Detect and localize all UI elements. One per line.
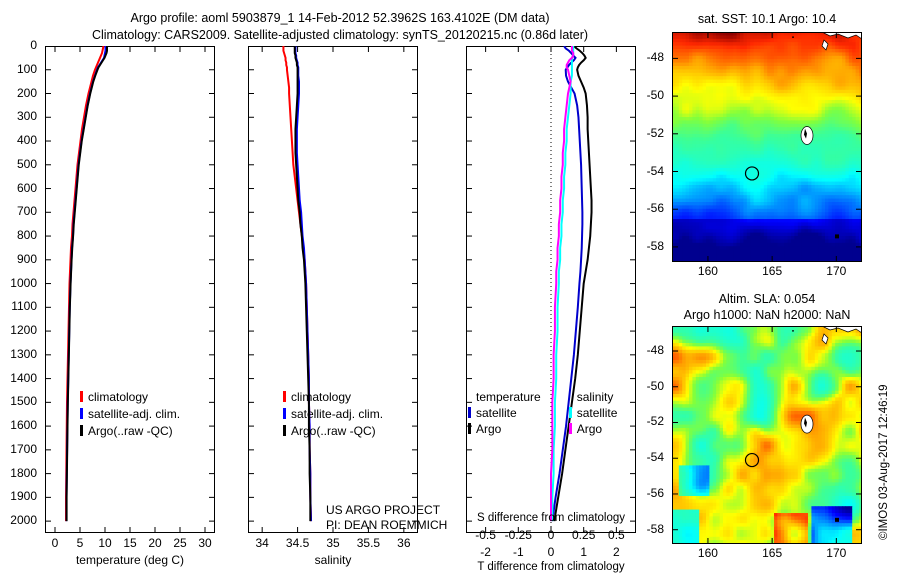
legend-item-satellite-adj: satellite-adj. clim. xyxy=(80,407,180,421)
t-difference-tick-label: -1 xyxy=(513,545,524,559)
map-lat-tick-label: -56 xyxy=(647,201,664,215)
legend-group-header-salinity: salinity xyxy=(577,390,618,404)
salinity-panel xyxy=(248,46,418,533)
sla-map xyxy=(672,326,862,544)
salinity-xtick-labels: 3434.53535.536 xyxy=(248,536,418,552)
legend-item-salinity-satellite: satellite xyxy=(569,406,618,420)
map-lon-tick-label: 160 xyxy=(698,264,718,278)
legend-label: climatology xyxy=(88,390,148,404)
legend-item-argo: Argo(..raw -QC) xyxy=(80,424,180,438)
map-lon-tick-label: 165 xyxy=(762,546,782,560)
t-difference-xtick-labels: -2-1012 xyxy=(466,545,636,560)
legend-swatch-temperature-satellite xyxy=(468,407,471,418)
legend-label: climatology xyxy=(291,390,351,404)
us-argo-project-line2: PI: DEAN ROEMMICH xyxy=(326,518,447,532)
map-lat-tick-label: -48 xyxy=(647,50,664,64)
map-lat-tick-label: -54 xyxy=(647,450,664,464)
difference-profile-plot xyxy=(466,46,636,533)
temperature-legend: climatology satellite-adj. clim. Argo(..… xyxy=(80,390,180,438)
t-difference-axis-label: T difference from climatology xyxy=(466,561,636,573)
imos-credit-text: ©IMOS 03-Aug-2017 12:46:19 xyxy=(878,384,890,540)
sla-map-title-line1: Altim. SLA: 0.054 xyxy=(662,292,872,306)
legend-label: Argo xyxy=(577,422,602,436)
s-difference-tick-label: 0.5 xyxy=(608,528,625,542)
salinity-profile-plot xyxy=(248,46,418,533)
salinity-tick-label: 34.5 xyxy=(286,536,309,550)
legend-item-argo: Argo(..raw -QC) xyxy=(283,424,383,438)
depth-tick-label: 0 xyxy=(30,38,37,52)
legend-swatch-satellite-adj xyxy=(283,408,286,419)
legend-swatch-argo xyxy=(80,425,83,436)
legend-label: satellite xyxy=(476,406,517,420)
depth-tick-label: 2000 xyxy=(10,513,37,527)
sst-map xyxy=(672,32,862,262)
temperature-xtick-labels: 051015202530 xyxy=(45,536,215,552)
legend-swatch-argo xyxy=(283,425,286,436)
temperature-tick-label: 25 xyxy=(173,536,186,550)
depth-tick-label: 1900 xyxy=(10,489,37,503)
map-lat-tick-label: -50 xyxy=(647,88,664,102)
salinity-axis-label: salinity xyxy=(248,553,418,567)
temperature-axis-label: temperature (deg C) xyxy=(45,553,215,567)
sla-map-title-line2: Argo h1000: NaN h2000: NaN xyxy=(662,308,872,322)
legend-label: Argo(..raw -QC) xyxy=(291,424,376,438)
figure-title-line1: Argo profile: aoml 5903879_1 14-Feb-2012… xyxy=(0,11,680,25)
legend-swatch-climatology xyxy=(283,391,286,402)
depth-tick-label: 800 xyxy=(17,228,37,242)
series-argo-raw-qc- xyxy=(67,46,107,521)
difference-legend-temperature-column: temperature satellite Argo xyxy=(468,390,541,436)
legend-group-header-temperature: temperature xyxy=(476,390,541,404)
salinity-legend: climatology satellite-adj. clim. Argo(..… xyxy=(283,390,383,438)
s-difference-tick-label: -0.25 xyxy=(505,528,532,542)
temperature-profile-plot xyxy=(45,46,215,533)
depth-tick-label: 600 xyxy=(17,181,37,195)
map-lon-tick-label: 165 xyxy=(762,264,782,278)
legend-item-temperature-argo: Argo xyxy=(468,422,541,436)
depth-tick-label: 700 xyxy=(17,204,37,218)
legend-swatch-climatology xyxy=(80,391,83,402)
depth-tick-label: 1400 xyxy=(10,371,37,385)
temperature-tick-label: 10 xyxy=(98,536,111,550)
sst-map-canvas xyxy=(672,32,862,262)
legend-swatch-salinity-satellite xyxy=(569,407,572,418)
s-difference-axis-label: S difference from climatology xyxy=(466,512,636,524)
depth-axis-ticks: 0100200300400500600700800900100011001200… xyxy=(0,46,43,533)
salinity-tick-label: 34 xyxy=(255,536,268,550)
sla-map-lat-ticks: -48-50-52-54-56-58 xyxy=(632,326,670,544)
sla-map-canvas xyxy=(672,326,862,544)
s-difference-tick-label: -0.5 xyxy=(475,528,496,542)
salinity-tick-label: 35 xyxy=(326,536,339,550)
t-difference-tick-label: 0 xyxy=(548,545,555,559)
depth-tick-label: 400 xyxy=(17,133,37,147)
map-lat-tick-label: -48 xyxy=(647,343,664,357)
depth-tick-label: 1200 xyxy=(10,323,37,337)
salinity-tick-label: 36 xyxy=(397,536,410,550)
imos-credit: ©IMOS 03-Aug-2017 12:46:19 xyxy=(878,540,900,552)
difference-panel xyxy=(466,46,636,533)
map-lon-tick-label: 160 xyxy=(698,546,718,560)
legend-item-satellite-adj: satellite-adj. clim. xyxy=(283,407,383,421)
map-lat-tick-label: -58 xyxy=(647,522,664,536)
map-lat-tick-label: -56 xyxy=(647,486,664,500)
legend-label: Argo(..raw -QC) xyxy=(88,424,173,438)
depth-tick-label: 200 xyxy=(17,86,37,100)
salinity-tick-label: 35.5 xyxy=(357,536,380,550)
s-difference-xtick-labels: -0.5-0.2500.250.5 xyxy=(466,528,636,543)
temperature-tick-label: 0 xyxy=(52,536,59,550)
t-difference-tick-label: -2 xyxy=(480,545,491,559)
depth-tick-label: 500 xyxy=(17,157,37,171)
depth-tick-label: 1500 xyxy=(10,394,37,408)
legend-item-temperature-satellite: satellite xyxy=(468,406,541,420)
difference-legend: temperature satellite Argo salinity sate… xyxy=(468,390,638,436)
depth-tick-label: 1800 xyxy=(10,466,37,480)
temperature-tick-label: 5 xyxy=(77,536,84,550)
legend-swatch-salinity-argo xyxy=(569,423,572,434)
legend-item-climatology: climatology xyxy=(80,390,180,404)
depth-tick-label: 1100 xyxy=(11,299,37,313)
t-difference-tick-label: 2 xyxy=(613,545,620,559)
legend-swatch-satellite-adj xyxy=(80,408,83,419)
legend-swatch-temperature-argo xyxy=(468,423,471,434)
series-temperature-argo xyxy=(554,46,591,521)
legend-label: satellite-adj. clim. xyxy=(88,407,180,421)
temperature-tick-label: 30 xyxy=(198,536,211,550)
map-lat-tick-label: -52 xyxy=(647,126,664,140)
map-lat-tick-label: -52 xyxy=(647,414,664,428)
legend-label: Argo xyxy=(476,422,501,436)
temperature-panel xyxy=(45,46,215,533)
map-lat-tick-label: -50 xyxy=(647,379,664,393)
depth-tick-label: 1300 xyxy=(10,347,37,361)
sst-map-title: sat. SST: 10.1 Argo: 10.4 xyxy=(672,12,862,26)
s-difference-tick-label: 0 xyxy=(548,528,555,542)
legend-label: satellite xyxy=(577,406,618,420)
series-argo-raw-qc- xyxy=(295,46,311,521)
legend-label: satellite-adj. clim. xyxy=(291,407,383,421)
sla-map-lon-ticks: 160165170 xyxy=(672,546,862,562)
us-argo-project-line1: US ARGO PROJECT xyxy=(326,503,440,517)
sst-map-lon-ticks: 160165170 xyxy=(672,264,862,280)
temperature-tick-label: 15 xyxy=(123,536,136,550)
depth-tick-label: 1600 xyxy=(10,418,37,432)
depth-tick-label: 1000 xyxy=(10,276,37,290)
difference-legend-salinity-column: salinity satellite Argo xyxy=(569,390,618,436)
legend-item-salinity-argo: Argo xyxy=(569,422,618,436)
temperature-tick-label: 20 xyxy=(148,536,161,550)
map-lon-tick-label: 170 xyxy=(826,546,846,560)
depth-tick-label: 900 xyxy=(17,252,37,266)
depth-tick-label: 300 xyxy=(17,109,37,123)
figure-title-line2: Climatology: CARS2009. Satellite-adjuste… xyxy=(0,28,680,42)
legend-item-climatology: climatology xyxy=(283,390,383,404)
map-lat-tick-label: -58 xyxy=(647,239,664,253)
sst-map-lat-ticks: -48-50-52-54-56-58 xyxy=(632,32,670,262)
map-lon-tick-label: 170 xyxy=(826,264,846,278)
s-difference-tick-label: 0.25 xyxy=(572,528,595,542)
depth-tick-label: 1700 xyxy=(10,442,37,456)
t-difference-tick-label: 1 xyxy=(580,545,587,559)
map-lat-tick-label: -54 xyxy=(647,164,664,178)
depth-tick-label: 100 xyxy=(17,62,37,76)
